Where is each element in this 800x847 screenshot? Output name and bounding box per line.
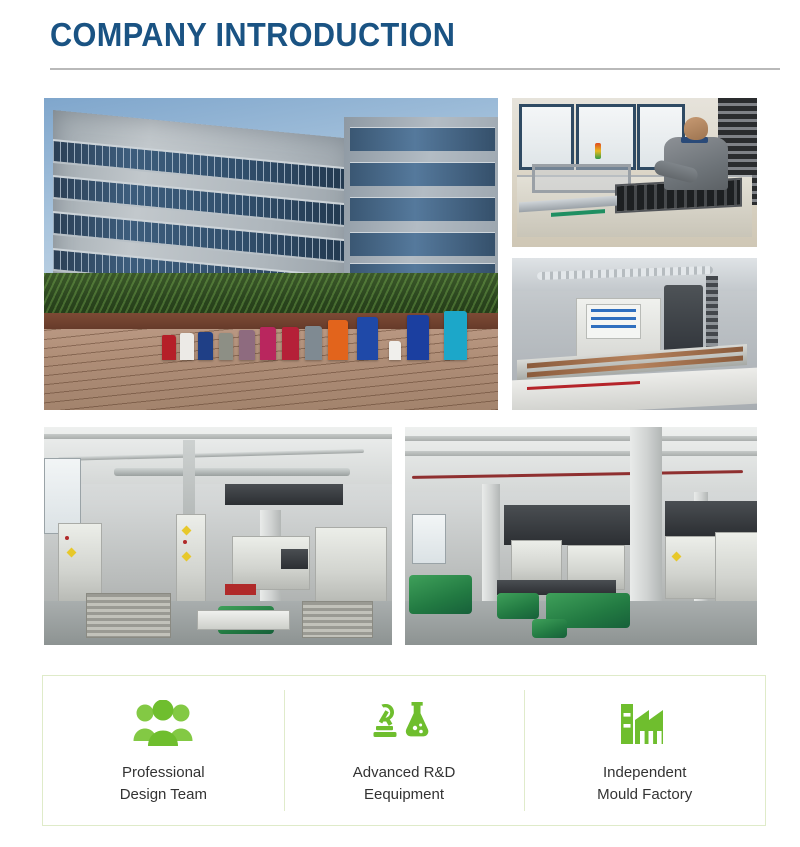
feature-advanced-rd-equipment[interactable]: Advanced R&D Eequipment bbox=[284, 676, 525, 825]
control-cabinet bbox=[176, 514, 206, 612]
photo-production-workshop-line[interactable] bbox=[44, 427, 392, 645]
header-divider bbox=[50, 68, 780, 70]
photo-factory-hall-overview[interactable] bbox=[405, 427, 757, 645]
ceiling-beam bbox=[405, 436, 757, 441]
photo-gallery bbox=[44, 98, 757, 645]
red-cart bbox=[225, 584, 256, 595]
indicator-light bbox=[65, 536, 69, 540]
feature-label: Professional Design Team bbox=[120, 762, 207, 806]
factory-icon bbox=[617, 696, 673, 748]
feature-independent-mould-factory[interactable]: Independent Mould Factory bbox=[524, 676, 765, 825]
office-building-secondary bbox=[344, 117, 498, 292]
photo-cnc-machining-line[interactable] bbox=[512, 258, 757, 410]
hall-window bbox=[412, 514, 446, 564]
covered-stock bbox=[409, 575, 472, 614]
production-machine bbox=[315, 527, 387, 603]
covered-stock bbox=[532, 619, 567, 639]
signal-tower-lamp bbox=[595, 143, 601, 159]
photo-office-building-exterior[interactable] bbox=[44, 98, 498, 410]
feature-highlights: Professional Design Team Advanced R&D Ee… bbox=[42, 675, 766, 826]
moulding-machine-row bbox=[504, 505, 631, 544]
ceiling-beam bbox=[44, 434, 392, 439]
machine-opening bbox=[281, 549, 309, 569]
production-machine bbox=[715, 532, 757, 608]
feature-label: Advanced R&D Eequipment bbox=[353, 762, 456, 806]
conveyor-table bbox=[197, 610, 289, 629]
chair-display-row bbox=[44, 285, 498, 360]
cnc-control-panel bbox=[586, 304, 642, 339]
people-group-icon bbox=[132, 696, 194, 748]
covered-stock bbox=[497, 593, 539, 619]
feature-professional-design-team[interactable]: Professional Design Team bbox=[43, 676, 284, 825]
ceiling-beam bbox=[405, 451, 757, 456]
control-cabinet bbox=[58, 523, 102, 603]
material-stack bbox=[86, 593, 172, 639]
workshop-window bbox=[519, 104, 574, 170]
worker-head bbox=[684, 117, 709, 139]
page-title: COMPANY INTRODUCTION bbox=[50, 14, 729, 56]
microscope-flask-icon bbox=[372, 696, 436, 748]
overhead-machinery bbox=[225, 484, 343, 506]
ventilation-duct bbox=[114, 468, 351, 476]
production-machine bbox=[665, 536, 716, 599]
material-stack bbox=[302, 601, 374, 638]
feature-label: Independent Mould Factory bbox=[597, 762, 692, 806]
workshop-window bbox=[576, 104, 636, 170]
photo-worker-operating-machine[interactable] bbox=[512, 98, 757, 247]
page-header: COMPANY INTRODUCTION bbox=[50, 14, 780, 70]
